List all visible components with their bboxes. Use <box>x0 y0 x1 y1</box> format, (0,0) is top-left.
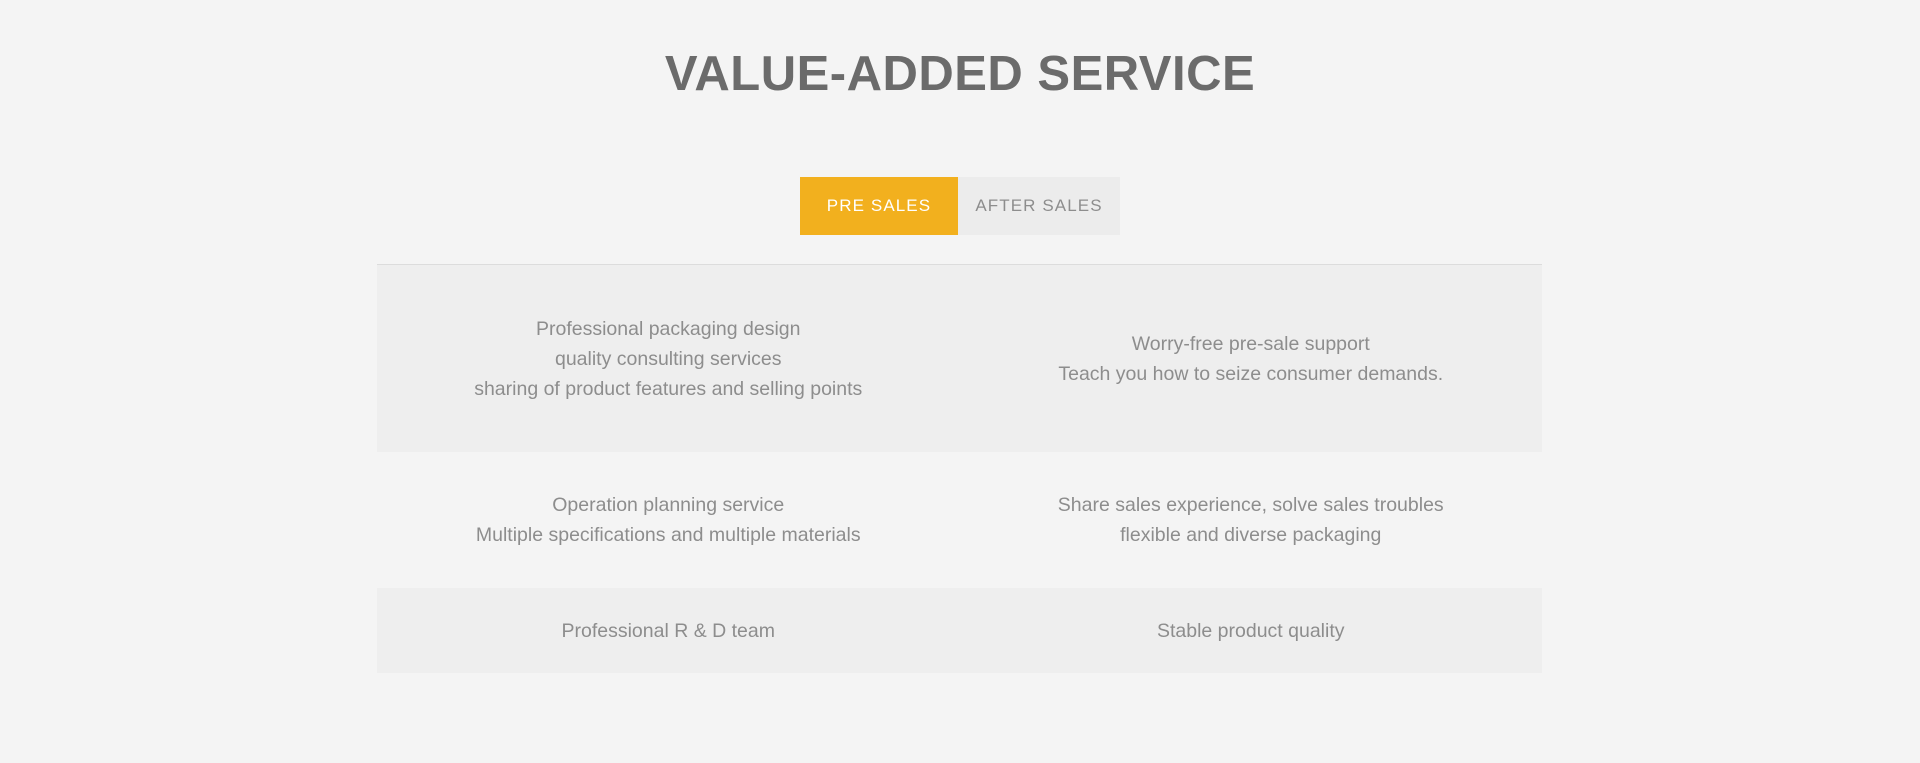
table-cell-left: Operation planning service Multiple spec… <box>377 490 960 550</box>
table-cell-right: Worry-free pre-sale support Teach you ho… <box>960 329 1543 389</box>
table-cell-line: Multiple specifications and multiple mat… <box>395 520 942 550</box>
table-cell-line: sharing of product features and selling … <box>395 374 942 404</box>
table-cell-line: Professional R & D team <box>395 616 942 646</box>
tab-after-sales[interactable]: AFTER SALES <box>958 177 1120 235</box>
tab-after-sales-label: AFTER SALES <box>975 196 1102 216</box>
table-cell-line: quality consulting services <box>395 344 942 374</box>
table-row: Operation planning service Multiple spec… <box>377 452 1542 588</box>
value-added-service-section: VALUE-ADDED SERVICE PRE SALES AFTER SALE… <box>0 0 1920 763</box>
table-cell-line: Teach you how to seize consumer demands. <box>978 359 1525 389</box>
table-row: Professional packaging design quality co… <box>377 265 1542 452</box>
table-cell-left: Professional R & D team <box>377 616 960 646</box>
table-row: Professional R & D team Stable product q… <box>377 588 1542 673</box>
table-cell-right: Share sales experience, solve sales trou… <box>960 490 1543 550</box>
table-cell-line: Operation planning service <box>395 490 942 520</box>
table-cell-left: Professional packaging design quality co… <box>377 314 960 404</box>
tab-pre-sales-label: PRE SALES <box>827 196 931 216</box>
table-cell-line: Stable product quality <box>978 616 1525 646</box>
page-title: VALUE-ADDED SERVICE <box>0 46 1920 102</box>
table-cell-line: Professional packaging design <box>395 314 942 344</box>
tab-bar: PRE SALES AFTER SALES <box>0 177 1920 235</box>
table-cell-line: flexible and diverse packaging <box>978 520 1525 550</box>
table-cell-line: Share sales experience, solve sales trou… <box>978 490 1525 520</box>
table-cell-right: Stable product quality <box>960 616 1543 646</box>
tab-pre-sales[interactable]: PRE SALES <box>800 177 958 235</box>
service-table: Professional packaging design quality co… <box>377 264 1542 673</box>
table-cell-line: Worry-free pre-sale support <box>978 329 1525 359</box>
